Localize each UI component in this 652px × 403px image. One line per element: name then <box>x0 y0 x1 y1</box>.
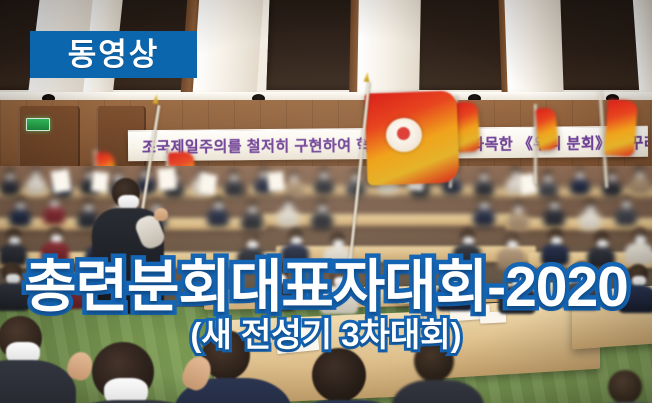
flag-right-c <box>600 92 648 188</box>
sub-title: (새 전성기 3차대회) <box>0 318 652 353</box>
video-badge-label: 동영상 <box>68 39 160 70</box>
ceiling-panel <box>192 0 264 100</box>
video-badge[interactable]: 동영상 <box>30 31 197 78</box>
ceiling-recess <box>266 0 359 90</box>
raised-paper <box>91 171 109 193</box>
title-overlay: 총련분회대표자대회-2020 (새 전성기 3차대회) <box>0 258 652 353</box>
ceiling-panel <box>504 0 564 100</box>
ceiling-recess <box>415 0 507 90</box>
flag-right-b <box>530 104 570 184</box>
screenshot-root: 조국제일주의를 철저히 구현하여 혁과 정이 넘치는 화목한 《우리 분회》를 … <box>0 0 652 403</box>
main-title: 총련분회대표자대회-2020 <box>0 258 652 316</box>
flag-large-emblem <box>352 88 472 218</box>
exit-sign-icon <box>26 118 50 131</box>
raised-paper <box>50 169 71 194</box>
